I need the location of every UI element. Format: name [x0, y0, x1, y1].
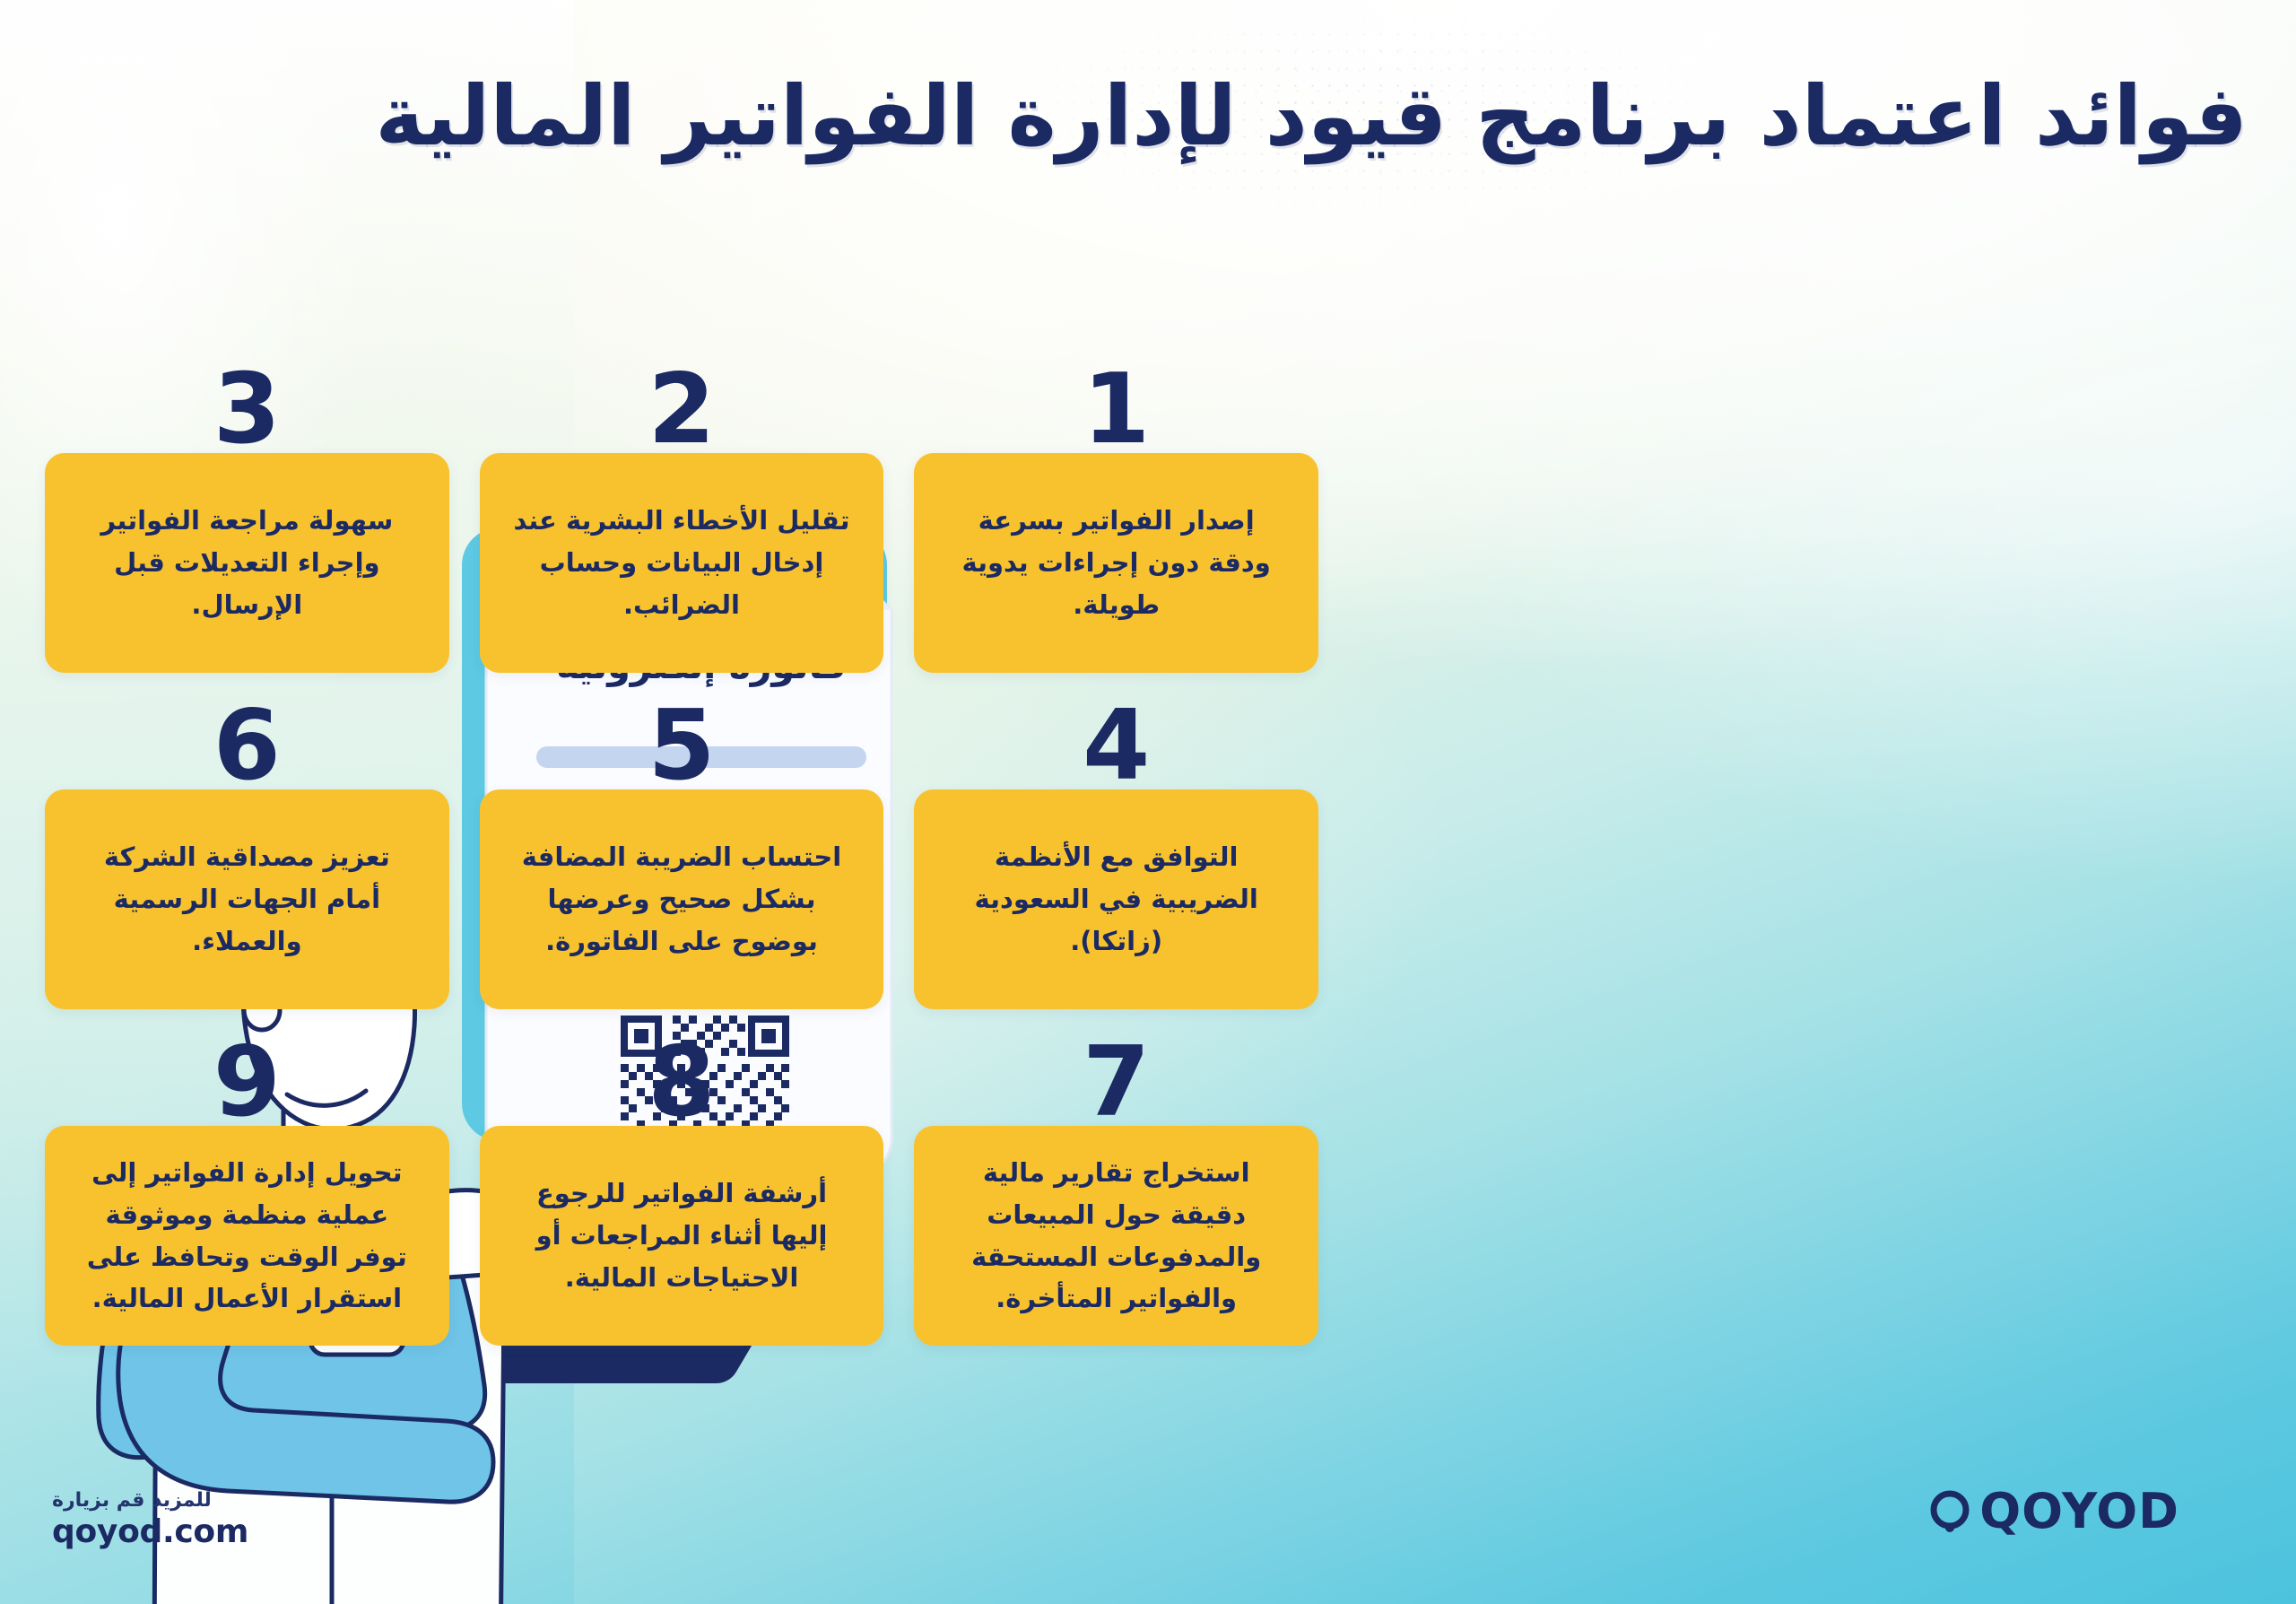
infographic-canvas: فوائد اعتماد برنامج قيود لإدارة الفواتير…: [0, 0, 2296, 1604]
benefit-card-5[interactable]: 5 احتساب الضريبة المضافة بشكل صحيح وعرضه…: [480, 789, 884, 1009]
benefit-card-1[interactable]: 1 إصدار الفواتير بسرعة ودقة دون إجراءات …: [914, 453, 1318, 673]
benefit-card-4[interactable]: 4 التوافق مع الأنظمة الضريبية في السعودي…: [914, 789, 1318, 1009]
footer-visit-note: للمزيد قم بزيارة qoyod.com: [52, 1489, 248, 1550]
benefit-card-7[interactable]: 7 استخراج تقارير مالية دقيقة حول المبيعا…: [914, 1126, 1318, 1346]
benefit-card-8[interactable]: 8 أرشفة الفواتير للرجوع إليها أثناء المر…: [480, 1126, 884, 1346]
benefit-card-9[interactable]: 9 تحويل إدارة الفواتير إلى عملية منظمة و…: [45, 1126, 449, 1346]
footer-note-label: للمزيد قم بزيارة: [52, 1489, 248, 1512]
benefit-text: احتساب الضريبة المضافة بشكل صحيح وعرضها …: [510, 836, 854, 963]
benefit-number: 4: [914, 698, 1318, 795]
brand-logo-text: QOYOD: [1979, 1483, 2179, 1539]
benefit-number: 6: [45, 698, 449, 795]
benefit-card-3[interactable]: 3 سهولة مراجعة الفواتير وإجراء التعديلات…: [45, 453, 449, 673]
brand-logo: QOYOD: [1926, 1483, 2179, 1539]
benefit-number: 5: [480, 698, 884, 795]
benefit-text: استخراج تقارير مالية دقيقة حول المبيعات …: [944, 1152, 1288, 1321]
benefit-text: سهولة مراجعة الفواتير وإجراء التعديلات ق…: [75, 500, 419, 626]
benefits-grid: 1 إصدار الفواتير بسرعة ودقة دون إجراءات …: [45, 453, 1318, 1346]
page-title: فوائد اعتماد برنامج قيود لإدارة الفواتير…: [48, 70, 2248, 162]
benefit-text: تعزيز مصداقية الشركة أمام الجهات الرسمية…: [75, 836, 419, 963]
brand-logo-mark: [1926, 1487, 1974, 1536]
footer-website-url[interactable]: qoyod.com: [52, 1513, 248, 1550]
benefit-number: 8: [480, 1034, 884, 1131]
benefit-card-2[interactable]: 2 تقليل الأخطاء البشرية عند إدخال البيان…: [480, 453, 884, 673]
benefit-text: تقليل الأخطاء البشرية عند إدخال البيانات…: [510, 500, 854, 626]
benefit-number: 9: [45, 1034, 449, 1131]
benefit-number: 7: [914, 1034, 1318, 1131]
benefit-text: التوافق مع الأنظمة الضريبية في السعودية …: [944, 836, 1288, 963]
benefit-card-6[interactable]: 6 تعزيز مصداقية الشركة أمام الجهات الرسم…: [45, 789, 449, 1009]
benefit-text: تحويل إدارة الفواتير إلى عملية منظمة ومو…: [75, 1152, 419, 1321]
benefit-text: أرشفة الفواتير للرجوع إليها أثناء المراج…: [510, 1172, 854, 1299]
benefit-text: إصدار الفواتير بسرعة ودقة دون إجراءات يد…: [944, 500, 1288, 626]
